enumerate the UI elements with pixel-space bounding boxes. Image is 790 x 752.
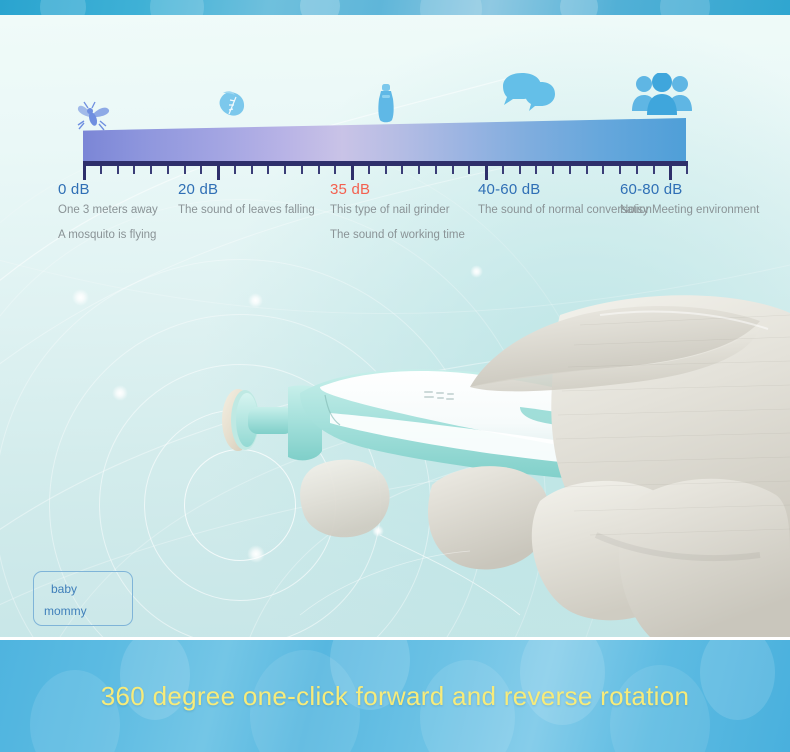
axis-tick-major [669, 166, 672, 180]
axis-tick-minor [686, 166, 688, 174]
axis-tick-minor [133, 166, 135, 174]
sparkle-dot [72, 289, 89, 306]
db-value: 60-80 dB [620, 181, 730, 198]
axis-tick-minor [401, 166, 403, 174]
main-stage: 0 dB One 3 meters away A mosquito is fly… [0, 15, 790, 637]
speech-bubbles-icon [499, 72, 555, 117]
db-description-primary: One 3 meters away [58, 203, 158, 219]
db-label-60-80: 60-80 dB Noisy Meeting environment [620, 181, 730, 219]
db-label-0: 0 dB One 3 meters away A mosquito is fly… [58, 181, 158, 243]
axis-tick-minor [150, 166, 152, 174]
db-label-40-60: 40-60 dB The sound of normal conversatio… [478, 181, 606, 219]
axis-tick-minor [636, 166, 638, 174]
sparkle-dot [112, 385, 128, 401]
decibel-scale: 0 dB One 3 meters away A mosquito is fly… [0, 15, 790, 265]
axis-tick-major [83, 166, 86, 180]
axis-tick-minor [200, 166, 202, 174]
axis-tick-minor [452, 166, 454, 174]
infographic-page: 0 dB One 3 meters away A mosquito is fly… [0, 0, 790, 752]
axis-tick-minor [251, 166, 253, 174]
axis-tick-minor [385, 166, 387, 174]
axis-tick-minor [519, 166, 521, 174]
axis-tick-minor [368, 166, 370, 174]
axis-tick-minor [267, 166, 269, 174]
axis-tick-minor [502, 166, 504, 174]
db-description-secondary: The sound of working time [330, 228, 455, 244]
db-description-primary: The sound of normal conversation [478, 203, 606, 219]
db-value: 40-60 dB [478, 181, 606, 198]
axis-tick-minor [569, 166, 571, 174]
axis-tick-minor [535, 166, 537, 174]
axis-tick-minor [418, 166, 420, 174]
axis-tick-major [485, 166, 488, 180]
axis-tick-minor [100, 166, 102, 174]
db-description-primary: Noisy Meeting environment [620, 203, 730, 219]
axis-tick-minor [234, 166, 236, 174]
sparkle-dot [247, 545, 265, 563]
axis-tick-minor [184, 166, 186, 174]
axis-tick-major [351, 166, 354, 180]
axis-tick-minor [117, 166, 119, 174]
axis-tick-minor [602, 166, 604, 174]
falling-leaf-icon [214, 87, 248, 124]
axis-tick-minor [167, 166, 169, 174]
sparkle-dot [248, 293, 263, 308]
callout-line-2: mommy [44, 600, 122, 622]
nail-grinder-bottle-icon [375, 83, 397, 130]
axis-tick-minor [318, 166, 320, 174]
axis-tick-minor [284, 166, 286, 174]
axis-tick-minor [435, 166, 437, 174]
banner-caption: 360 degree one-click forward and reverse… [0, 640, 790, 752]
group-of-people-icon [631, 73, 693, 120]
bottom-banner: 360 degree one-click forward and reverse… [0, 640, 790, 752]
sparkle-dot [372, 525, 384, 537]
sparkle-dot [470, 265, 483, 278]
axis-tick-minor [619, 166, 621, 174]
db-value: 20 dB [178, 181, 308, 198]
db-description-secondary: A mosquito is flying [58, 228, 158, 244]
top-accent-strip [0, 0, 790, 15]
axis-tick-minor [653, 166, 655, 174]
decibel-gradient-bar [83, 118, 686, 163]
axis-tick-minor [334, 166, 336, 174]
axis-tick-minor [468, 166, 470, 174]
axis-tick-minor [586, 166, 588, 174]
db-description-primary: This type of nail grinder [330, 203, 455, 219]
axis-tick-minor [552, 166, 554, 174]
db-value: 35 dB [330, 181, 455, 198]
baby-mommy-callout: baby mommy [33, 571, 133, 626]
axis-tick-major [217, 166, 220, 180]
db-label-20: 20 dB The sound of leaves falling [178, 181, 308, 219]
db-description-primary: The sound of leaves falling [178, 203, 308, 219]
db-value: 0 dB [58, 181, 158, 198]
axis-tick-minor [301, 166, 303, 174]
db-label-35: 35 dB This type of nail grinder The soun… [330, 181, 455, 243]
callout-line-1: baby [44, 578, 122, 600]
